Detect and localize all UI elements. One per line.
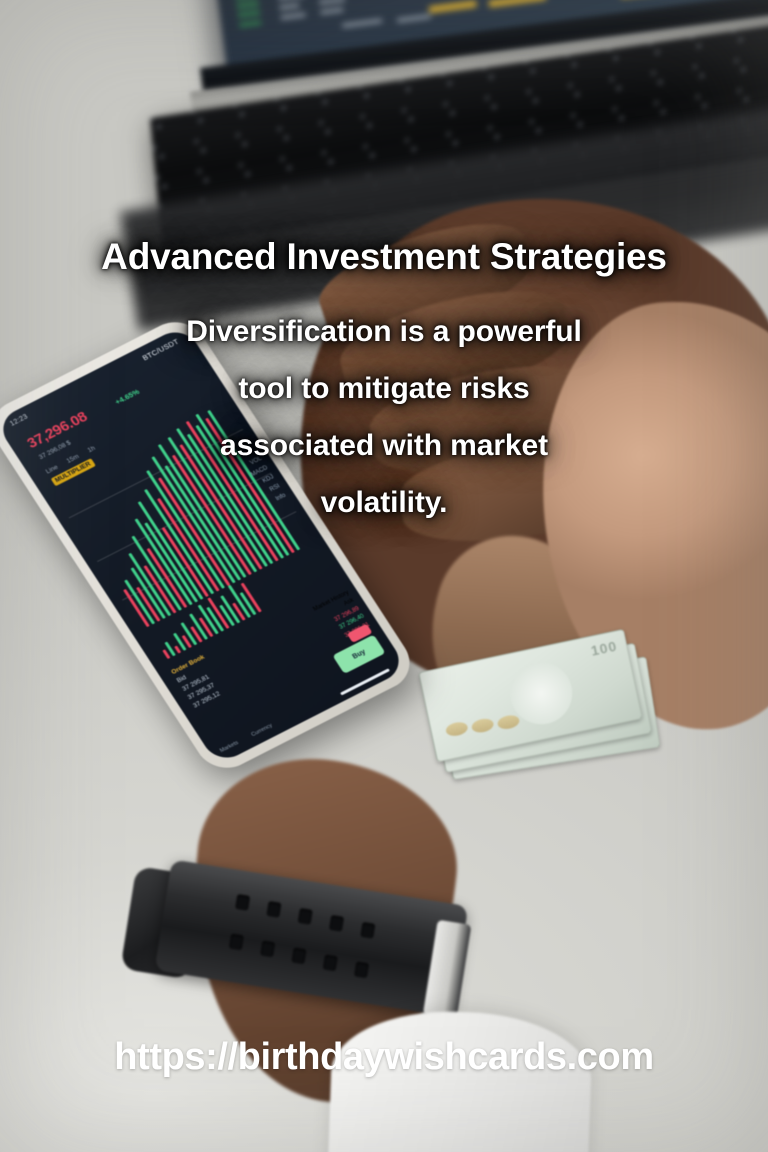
poster-subtitle: Diversification is a powerful tool to mi… bbox=[0, 303, 768, 531]
subtitle-line-1: Diversification is a powerful bbox=[0, 303, 768, 360]
poster-canvas: 100 12:23 BTC/USDT 37,296.08 +4.65% 37 2… bbox=[0, 0, 768, 1152]
text-overlay: Advanced Investment Strategies Diversifi… bbox=[0, 0, 768, 1152]
subtitle-line-4: volatility. bbox=[0, 474, 768, 531]
subtitle-line-2: tool to mitigate risks bbox=[0, 360, 768, 417]
subtitle-line-3: associated with market bbox=[0, 417, 768, 474]
website-url[interactable]: https://birthdaywishcards.com bbox=[0, 1036, 768, 1079]
poster-title: Advanced Investment Strategies bbox=[0, 236, 768, 278]
